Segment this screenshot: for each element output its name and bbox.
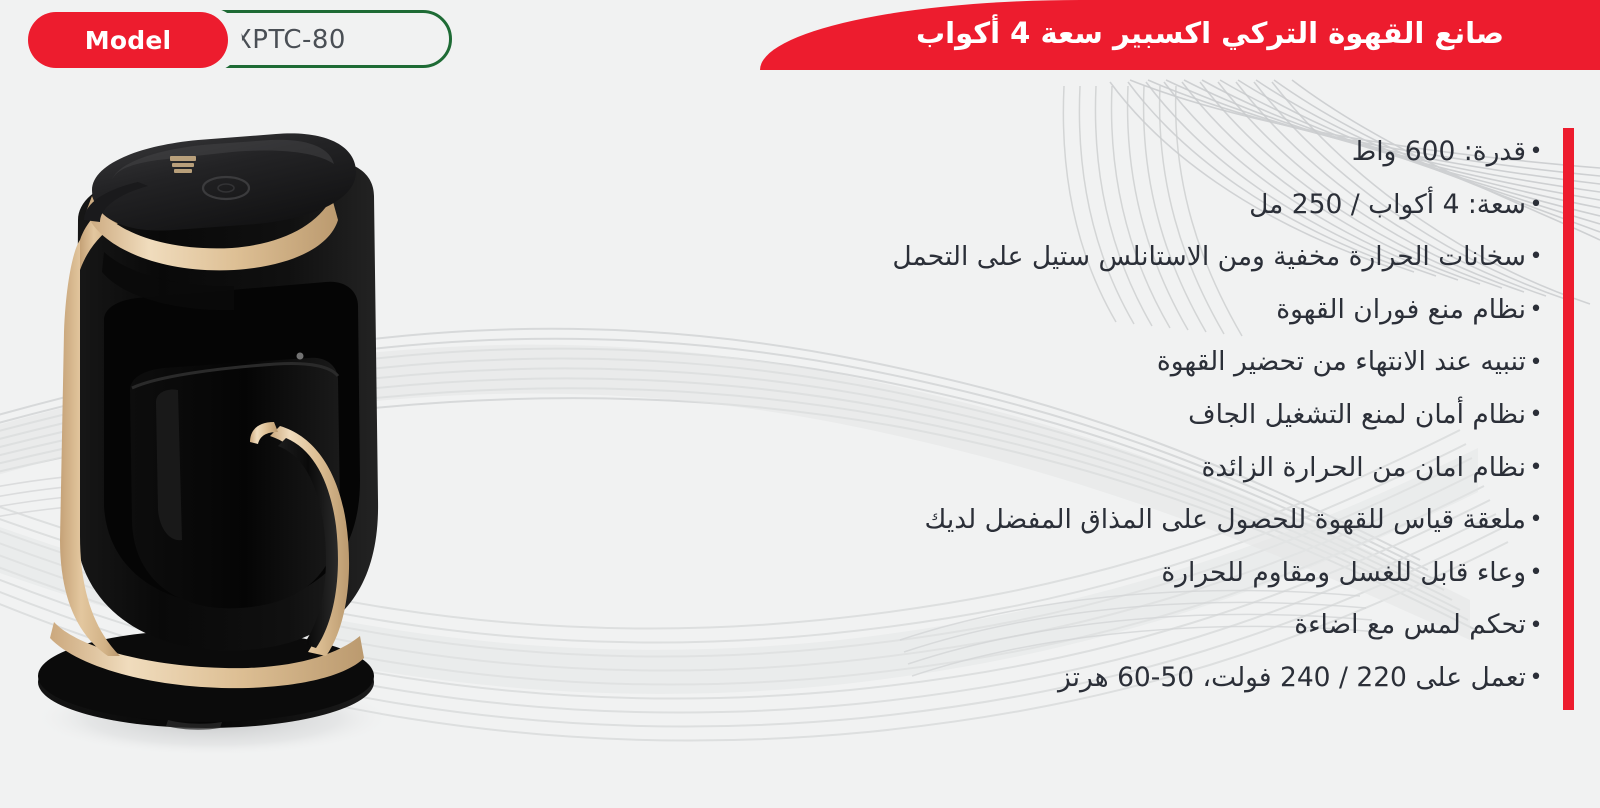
title-banner: صانع القهوة التركي اكسبير سعة 4 أكواب: [760, 0, 1600, 70]
list-item: • تنبيه عند الانتهاء من تحضير القهوة: [552, 336, 1552, 389]
list-item-label: سعة: 4 أكواب / 250 مل: [552, 190, 1526, 220]
bullet-icon: •: [1526, 667, 1546, 689]
list-item-label: نظام منع فوران القهوة: [552, 295, 1526, 325]
model-label-text: Model: [85, 26, 171, 55]
product-image: [8, 70, 438, 790]
list-item: • ملعقة قياس للقهوة للحصول على المذاق ال…: [552, 494, 1552, 547]
list-item-label: سخانات الحرارة مخفية ومن الاستانلس ستيل …: [552, 242, 1526, 272]
bullet-icon: •: [1526, 299, 1546, 321]
model-badge: XPTC-80 Model: [22, 8, 452, 72]
list-item: • نظام منع فوران القهوة: [552, 284, 1552, 337]
bullet-icon: •: [1526, 352, 1546, 374]
list-item: • نظام أمان لمنع التشغيل الجاف: [552, 389, 1552, 442]
list-item-label: قدرة: 600 واط: [552, 137, 1526, 167]
feature-list: • قدرة: 600 واط • سعة: 4 أكواب / 250 مل …: [552, 126, 1552, 705]
list-item-label: وعاء قابل للغسل ومقاوم للحرارة: [552, 558, 1526, 588]
bullet-icon: •: [1526, 246, 1546, 268]
list-item: • سعة: 4 أكواب / 250 مل: [552, 179, 1552, 232]
list-item-label: تنبيه عند الانتهاء من تحضير القهوة: [552, 347, 1526, 377]
bullet-icon: •: [1526, 457, 1546, 479]
bullet-icon: •: [1526, 141, 1546, 163]
list-item-label: ملعقة قياس للقهوة للحصول على المذاق المف…: [552, 505, 1526, 535]
page-title: صانع القهوة التركي اكسبير سعة 4 أكواب: [760, 0, 1600, 70]
bullet-icon: •: [1526, 615, 1546, 637]
model-value-text: XPTC-80: [234, 8, 346, 72]
product-carafe-highlight: [156, 390, 182, 541]
product-spec-page: XPTC-80 Model صانع القهوة التركي اكسبير …: [0, 0, 1600, 808]
list-item: • قدرة: 600 واط: [552, 126, 1552, 179]
list-item: • سخانات الحرارة مخفية ومن الاستانلس ستي…: [552, 231, 1552, 284]
list-item-label: تحكم لمس مع اضاءة: [552, 610, 1526, 640]
list-item: • تعمل على 220 / 240 فولت، 50-60 هرتز: [552, 652, 1552, 705]
list-item: • وعاء قابل للغسل ومقاوم للحرارة: [552, 547, 1552, 600]
list-item-label: نظام أمان لمنع التشغيل الجاف: [552, 400, 1526, 430]
list-item-label: تعمل على 220 / 240 فولت، 50-60 هرتز: [552, 663, 1526, 693]
list-item-label: نظام امان من الحرارة الزائدة: [552, 453, 1526, 483]
list-item: • تحكم لمس مع اضاءة: [552, 599, 1552, 652]
model-label-pill: Model: [28, 12, 228, 68]
bullet-icon: •: [1526, 194, 1546, 216]
bullet-icon: •: [1526, 404, 1546, 426]
list-item: • نظام امان من الحرارة الزائدة: [552, 442, 1552, 495]
bullet-icon: •: [1526, 509, 1546, 531]
right-vertical-rule: [1563, 128, 1574, 710]
product-indicator-dot: [297, 353, 304, 360]
bullet-icon: •: [1526, 562, 1546, 584]
